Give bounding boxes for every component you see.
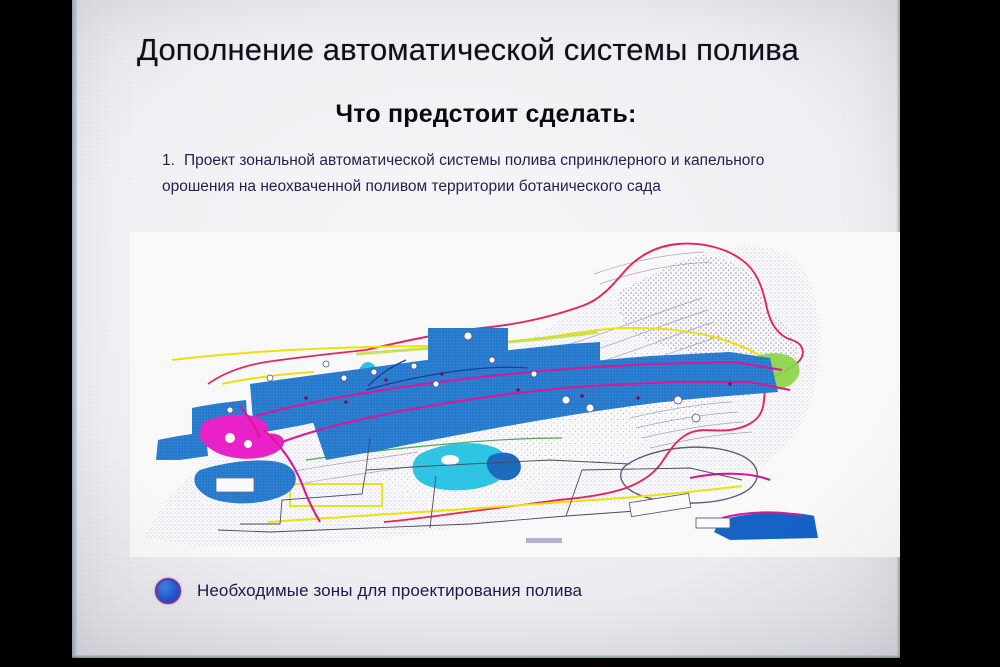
slide-left-edge	[72, 0, 77, 658]
legend: Необходимые зоны для проектирования поли…	[155, 578, 582, 604]
slide-bottom-edge	[72, 655, 900, 658]
small-building	[696, 518, 730, 528]
presentation-slide: Дополнение автоматической системы полива…	[72, 0, 900, 658]
legend-label: Необходимые зоны для проектирования поли…	[197, 581, 582, 601]
plan-stamp	[526, 538, 562, 543]
garden-plan-image	[130, 232, 900, 557]
magenta-zone-feature-a	[225, 433, 235, 443]
garden-plan-drawing	[130, 232, 900, 557]
slide-body-paragraph: 1.Проект зональной автоматической систем…	[162, 148, 822, 200]
page-title: Дополнение автоматической системы полива	[137, 32, 877, 68]
building-white-left	[216, 478, 254, 492]
garden-plan-svg	[130, 232, 900, 557]
list-number: 1.	[162, 148, 184, 174]
photo-of-projected-slide: Дополнение автоматической системы полива…	[0, 0, 1000, 667]
pond-island	[441, 455, 459, 465]
blue-filled-circle-icon	[155, 578, 181, 604]
magenta-zone-feature-b	[244, 440, 252, 448]
list-item-text: Проект зональной автоматической системы …	[162, 152, 764, 195]
slide-subtitle: Что предстоит сделать:	[72, 100, 900, 129]
